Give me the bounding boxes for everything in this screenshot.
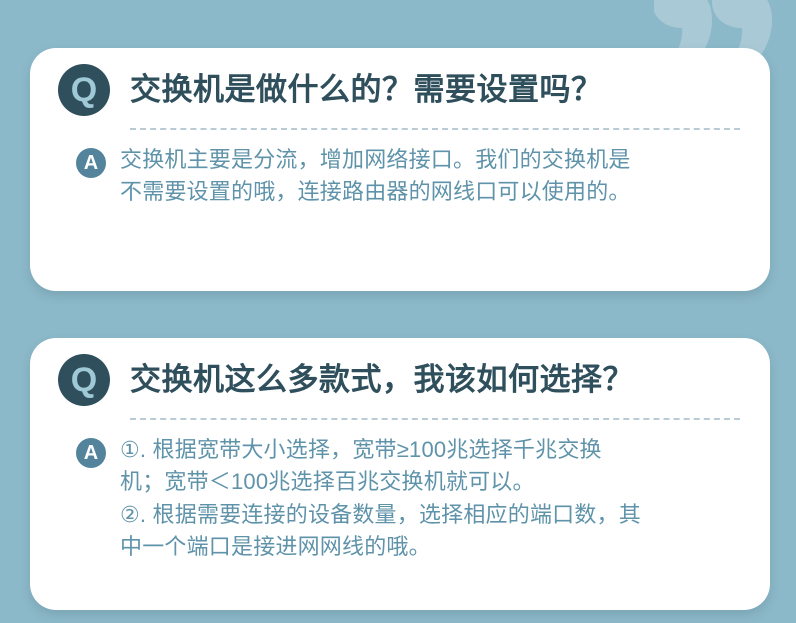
question-row: Q 交换机这么多款式，我该如何选择？: [58, 338, 740, 406]
answer-badge: A: [76, 438, 106, 468]
answer-line: ①. 根据宽带大小选择，宽带≥100兆选择千兆交换: [120, 434, 740, 466]
answer-row: A ①. 根据宽带大小选择，宽带≥100兆选择千兆交换 机；宽带＜100兆选择百…: [58, 434, 740, 563]
question-text: 交换机这么多款式，我该如何选择？: [130, 362, 634, 398]
answer-line: ②. 根据需要连接的设备数量，选择相应的端口数，其: [120, 499, 740, 531]
faq-card: Q 交换机这么多款式，我该如何选择？ A ①. 根据宽带大小选择，宽带≥100兆…: [30, 338, 770, 610]
question-row: Q 交换机是做什么的？需要设置吗？: [58, 48, 740, 116]
question-badge: Q: [58, 354, 110, 406]
divider: [130, 418, 740, 420]
divider: [130, 128, 740, 130]
faq-card-stack: Q 交换机是做什么的？需要设置吗？ A 交换机主要是分流，增加网络接口。我们的交…: [30, 0, 770, 623]
question-badge: Q: [58, 64, 110, 116]
question-text: 交换机是做什么的？需要设置吗？: [130, 72, 603, 108]
answer-line: 中一个端口是接进网网线的哦。: [120, 531, 740, 563]
answer-text: ①. 根据宽带大小选择，宽带≥100兆选择千兆交换 机；宽带＜100兆选择百兆交…: [120, 434, 740, 563]
answer-row: A 交换机主要是分流，增加网络接口。我们的交换机是 不需要设置的哦，连接路由器的…: [58, 144, 740, 209]
answer-badge: A: [76, 148, 106, 178]
answer-line: 不需要设置的哦，连接路由器的网线口可以使用的。: [120, 176, 740, 208]
answer-line: 交换机主要是分流，增加网络接口。我们的交换机是: [120, 144, 740, 176]
answer-line: 机；宽带＜100兆选择百兆交换机就可以。: [120, 466, 740, 498]
faq-card: Q 交换机是做什么的？需要设置吗？ A 交换机主要是分流，增加网络接口。我们的交…: [30, 48, 770, 291]
answer-text: 交换机主要是分流，增加网络接口。我们的交换机是 不需要设置的哦，连接路由器的网线…: [120, 144, 740, 209]
